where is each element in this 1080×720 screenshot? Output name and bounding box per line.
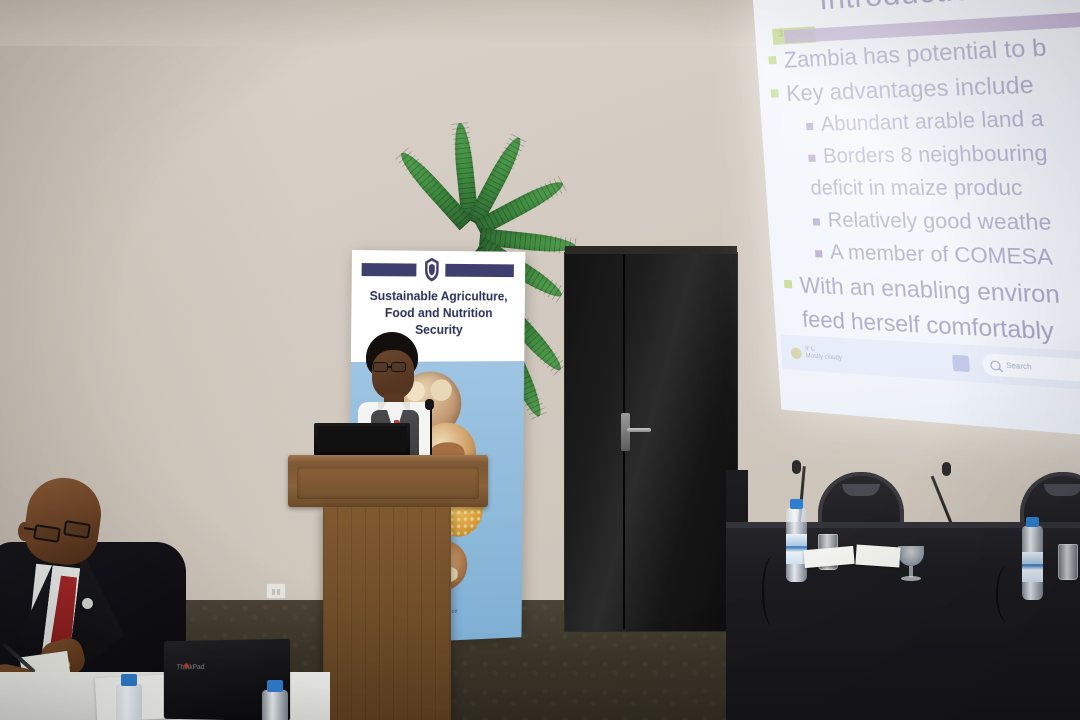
weather-widget[interactable]: 9°C Mostly cloudy	[790, 345, 842, 363]
bullet-square-icon	[813, 218, 820, 225]
bullet-square-icon	[808, 155, 815, 162]
bottle-cap	[1026, 517, 1039, 527]
bullet-square-icon	[815, 250, 822, 257]
presenter-eyeglasses-left	[373, 362, 388, 372]
banner-header-bar-right	[445, 264, 514, 277]
slide-sub-bullet: A member of COMESA	[781, 239, 1080, 275]
lectern-column	[323, 507, 451, 720]
bullet-square-icon	[806, 123, 813, 130]
crest-icon	[422, 257, 442, 283]
black-double-door[interactable]	[565, 253, 737, 631]
bottle-label	[1022, 552, 1043, 582]
slide-bullet-text: A member of COMESA	[829, 240, 1054, 272]
taskbar-app-icon[interactable]	[952, 354, 970, 371]
stemmed-glass[interactable]	[898, 546, 924, 582]
slide-bullet-continuation: deficit in maize produc	[777, 175, 1080, 204]
slide-number: 3	[778, 28, 784, 38]
lectern-top-lip	[288, 455, 488, 463]
door-lock-plate	[621, 413, 630, 451]
taskbar-search-box[interactable]: Search	[982, 353, 1080, 386]
taskbar-spacer	[854, 356, 940, 361]
thinkpad-logo-dot-icon	[184, 663, 189, 668]
slide-bullet-text: Borders 8 neighbouring	[822, 141, 1048, 170]
slide-sub-bullet: Relatively good weathe	[779, 208, 1080, 240]
lectern-top	[288, 455, 488, 507]
slide-bullet-text: deficit in maize produc	[810, 175, 1024, 203]
search-icon	[990, 360, 1001, 371]
slide-title: Introduction	[818, 0, 992, 18]
microphone-head	[792, 460, 801, 474]
front-desk-water-bottle[interactable]	[116, 684, 142, 720]
projection-screen: Introduction 3 Zambia has potential to b…	[752, 0, 1080, 442]
table-cable	[996, 566, 1018, 622]
conference-room-photo: Introduction 3 Zambia has potential to b…	[0, 0, 1080, 720]
lectern-microphone-arm	[430, 407, 432, 461]
presenter-eyeglasses-right	[391, 362, 406, 372]
water-bottle[interactable]	[1022, 526, 1043, 600]
sun-icon	[791, 347, 803, 359]
presenter-face	[372, 350, 414, 400]
search-placeholder: Search	[1006, 362, 1032, 371]
goblet-foot	[901, 576, 921, 581]
power-outlet	[266, 583, 286, 599]
banner-title-line-1: Sustainable Agriculture,	[359, 288, 517, 305]
slide-bullet-text: Relatively good weathe	[827, 208, 1053, 238]
table-paper[interactable]	[855, 544, 900, 567]
lectern-laptop[interactable]	[314, 423, 410, 456]
thinkpad-logo: ThinkPad	[177, 662, 205, 670]
slide-bullet-text: Key advantages include	[785, 70, 1034, 108]
lectern-microphone-head	[425, 399, 434, 410]
bullet-square-icon	[784, 280, 792, 288]
slide-sub-bullet: Abundant arable land a	[772, 103, 1080, 139]
man-ear	[18, 522, 31, 541]
door-handle[interactable]	[627, 428, 651, 432]
slide-bullet-text: With an enabling environ	[799, 271, 1061, 309]
front-desk-water-bottle[interactable]	[262, 690, 288, 720]
presenter-eyeglasses-bridge	[388, 366, 392, 368]
bottle-cap	[790, 499, 803, 509]
slide-bullet-list: Zambia has potential to b Key advantages…	[768, 27, 1080, 359]
slide-sub-bullet: Borders 8 neighbouring	[775, 139, 1080, 170]
bullet-square-icon	[771, 89, 779, 97]
goblet-bowl	[898, 546, 924, 566]
svg-text:ThinkPad: ThinkPad	[177, 664, 205, 670]
lectern-front-panel	[297, 467, 479, 499]
drinking-glass[interactable]	[1058, 544, 1078, 580]
bottle-cap	[267, 680, 283, 692]
man-lapel-pin	[82, 598, 93, 609]
microphone-head	[942, 462, 951, 476]
slide-bullet-text: Abundant arable land a	[820, 106, 1045, 138]
bullet-square-icon	[768, 56, 776, 64]
banner-title-line-2: Food and Nutrition	[359, 305, 517, 322]
bottle-cap	[121, 674, 137, 686]
banner-header-bar-left	[362, 263, 417, 276]
water-bottle[interactable]	[786, 508, 807, 582]
weather-description: Mostly cloudy	[806, 353, 843, 363]
door-frame-top	[565, 246, 737, 254]
lectern-laptop-screen	[317, 426, 407, 452]
table-cable	[762, 556, 784, 626]
